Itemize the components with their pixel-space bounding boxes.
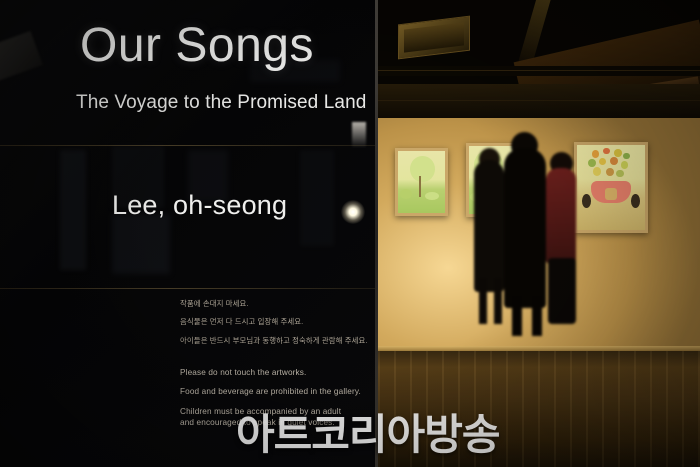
visitor-center <box>504 148 546 308</box>
panel-light-reflection <box>341 200 365 224</box>
artist-name: Lee, oh-seong <box>112 190 287 221</box>
ceiling-lower-band <box>378 84 700 120</box>
panel-seam-lower <box>0 288 378 289</box>
ceiling-seam <box>378 70 700 71</box>
gallery-photograph: Our Songs The Voyage to the Promised Lan… <box>0 0 700 467</box>
notice-korean-3: 아이들은 반드시 부모님과 동행하고 정숙하게 관람해 주세요. <box>180 337 378 346</box>
gallery-interior <box>378 0 700 467</box>
visitor-right <box>546 168 576 264</box>
panel-seam-upper <box>0 145 378 146</box>
panel-right-edge <box>375 0 378 467</box>
panel-highlight-small <box>352 122 366 148</box>
notice-english-2: Food and beverage are prohibited in the … <box>180 387 378 397</box>
exhibition-title: Our Songs <box>80 22 314 70</box>
artwork-frame-3 <box>574 142 648 233</box>
ceiling-vent-icon <box>398 16 470 60</box>
ceiling-seam-2 <box>378 100 700 101</box>
ceiling-shadow-band <box>378 66 700 76</box>
reflected-paper <box>0 31 43 81</box>
ceiling <box>378 0 700 120</box>
artwork-frame-1 <box>395 148 448 216</box>
exhibition-subtitle: The Voyage to the Promised Land <box>76 92 366 114</box>
broadcaster-watermark: 아트코리아방송 <box>236 414 499 456</box>
notice-korean-1: 작품에 손대지 마세요. <box>180 300 378 309</box>
notice-english-1: Please do not touch the artworks. <box>180 368 378 378</box>
exhibition-sign-panel: Our Songs The Voyage to the Promised Lan… <box>0 0 378 467</box>
panel-reflection <box>60 150 86 270</box>
notice-korean-2: 음식물은 먼저 다 드시고 입장해 주세요. <box>180 318 378 327</box>
visitor-left <box>474 160 504 292</box>
